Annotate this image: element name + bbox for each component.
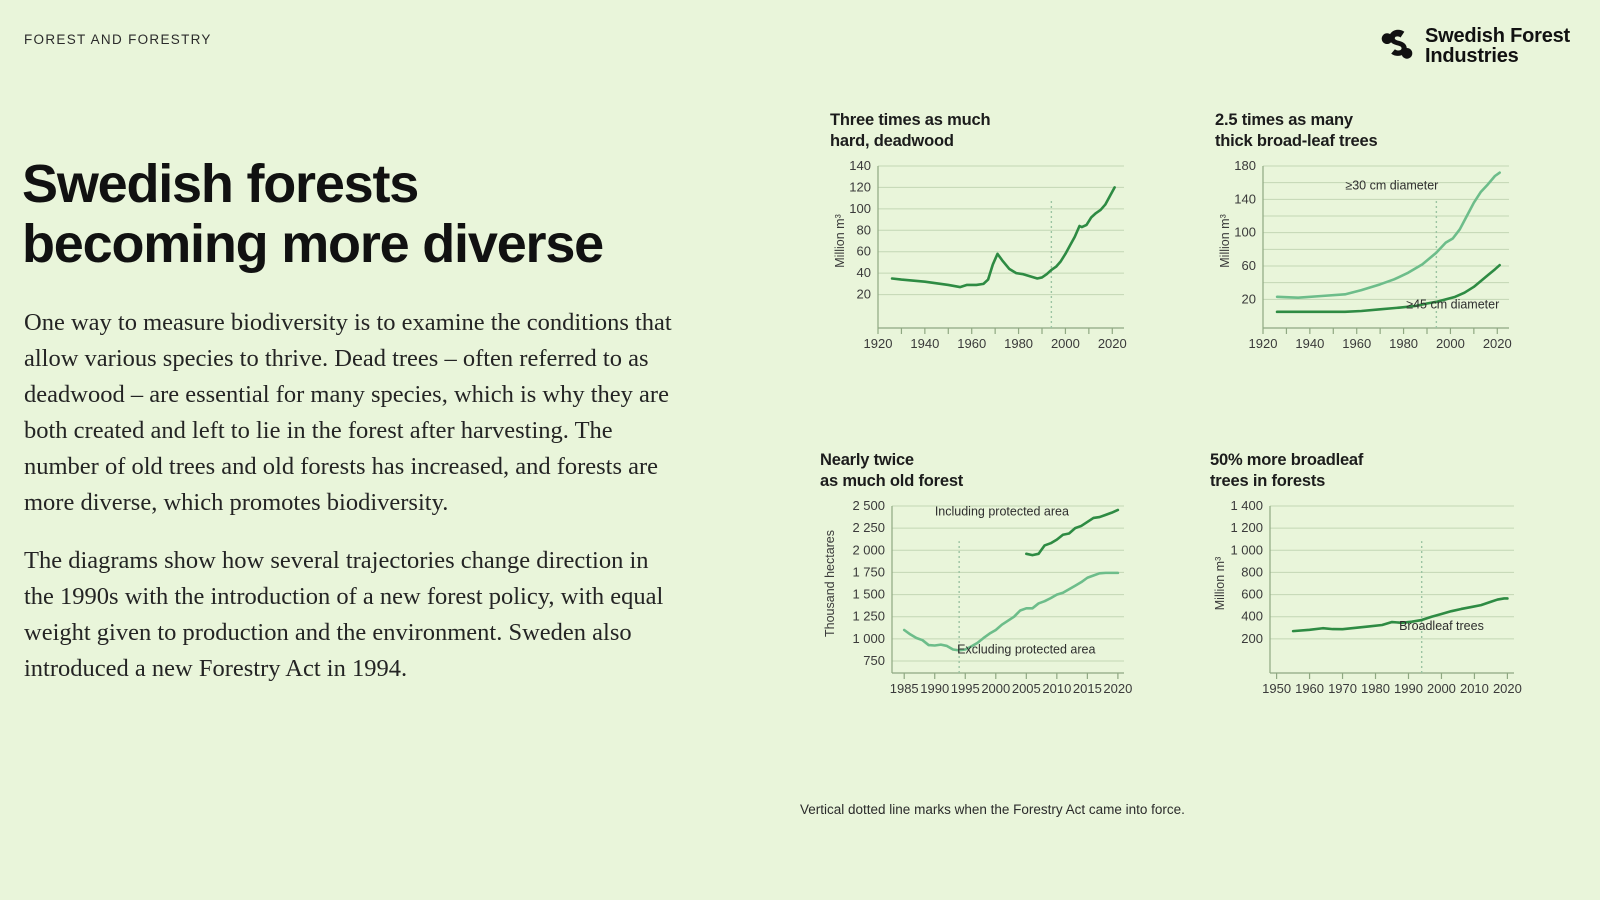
y-tick-label: 100 <box>849 201 871 216</box>
logo-line-2: Industries <box>1425 46 1570 66</box>
y-tick-label: 200 <box>1241 631 1263 646</box>
infographic-page: FOREST AND FORESTRY Swedish Forest Indus… <box>0 0 1600 900</box>
x-tick-label: 2010 <box>1460 681 1489 696</box>
x-tick-label: 2000 <box>981 681 1010 696</box>
series-label: Excluding protected area <box>957 642 1095 656</box>
y-tick-label: 60 <box>857 244 871 259</box>
x-tick-label: 2000 <box>1427 681 1456 696</box>
y-tick-label: 20 <box>1242 291 1256 306</box>
x-tick-label: 2020 <box>1483 336 1512 351</box>
y-tick-label: 100 <box>1234 225 1256 240</box>
x-tick-label: 1980 <box>1361 681 1390 696</box>
chart-broadleaf-volume: 50% more broadleaf trees in forests20040… <box>1210 450 1520 695</box>
x-tick-label: 1985 <box>890 681 919 696</box>
chart-title-deadwood: Three times as much hard, deadwood <box>830 110 1130 152</box>
y-axis-title: Million m³ <box>1213 557 1227 610</box>
x-tick-label: 1980 <box>1004 336 1033 351</box>
y-tick-label: 800 <box>1241 564 1263 579</box>
paragraph-2: The diagrams show how several trajectori… <box>24 543 674 687</box>
x-tick-label: 2020 <box>1098 336 1127 351</box>
y-tick-label: 80 <box>857 222 871 237</box>
y-tick-label: 2 000 <box>852 542 885 557</box>
x-tick-label: 1960 <box>1295 681 1324 696</box>
x-tick-label: 1960 <box>1342 336 1371 351</box>
chart-plot-old-forest: 7501 0001 2501 5001 7502 0002 2502 500Th… <box>820 500 1130 695</box>
headline-line-1: Swedish forests <box>22 154 672 214</box>
y-tick-label: 1 250 <box>852 609 885 624</box>
x-tick-label: 1980 <box>1389 336 1418 351</box>
series-line <box>892 187 1115 287</box>
x-tick-label: 1920 <box>864 336 893 351</box>
chart-title-old-forest: Nearly twice as much old forest <box>820 450 1130 492</box>
series-label: Including protected area <box>935 505 1069 519</box>
charts-grid: Three times as much hard, deadwood204060… <box>790 110 1580 810</box>
x-tick-label: 1990 <box>1394 681 1423 696</box>
y-tick-label: 20 <box>857 287 871 302</box>
x-tick-label: 1990 <box>920 681 949 696</box>
x-tick-label: 1940 <box>1295 336 1324 351</box>
chart-thick-broadleaf: 2.5 times as many thick broad-leaf trees… <box>1215 110 1515 350</box>
y-axis-title: Million m³ <box>1218 214 1232 267</box>
chart-plot-deadwood: 20406080100120140Million m³1920194019601… <box>830 160 1130 350</box>
y-tick-label: 1 200 <box>1230 520 1263 535</box>
y-tick-label: 2 500 <box>852 498 885 513</box>
x-tick-label: 1940 <box>910 336 939 351</box>
y-axis-title: Million m³ <box>833 214 847 267</box>
series-label: ≥30 cm diameter <box>1345 178 1438 192</box>
y-tick-label: 1 000 <box>852 631 885 646</box>
x-tick-label: 2015 <box>1073 681 1102 696</box>
chart-plot-broadleaf-volume: 2004006008001 0001 2001 400Million m³195… <box>1210 500 1520 695</box>
y-tick-label: 2 250 <box>852 520 885 535</box>
x-tick-label: 2005 <box>1012 681 1041 696</box>
x-tick-label: 2000 <box>1436 336 1465 351</box>
y-tick-label: 180 <box>1234 158 1256 173</box>
logo-wordmark: Swedish Forest Industries <box>1425 26 1570 66</box>
chart-plot-thick-broadleaf: 2060100140180Million m³19201940196019802… <box>1215 160 1515 350</box>
y-tick-label: 1 500 <box>852 587 885 602</box>
x-tick-label: 1970 <box>1328 681 1357 696</box>
footnote: Vertical dotted line marks when the Fore… <box>800 802 1185 817</box>
y-tick-label: 140 <box>1234 191 1256 206</box>
x-tick-label: 1960 <box>957 336 986 351</box>
y-tick-label: 400 <box>1241 609 1263 624</box>
swedish-forest-industries-s-icon <box>1378 26 1416 66</box>
y-tick-label: 750 <box>863 653 885 668</box>
x-tick-label: 1950 <box>1262 681 1291 696</box>
chart-title-broadleaf-volume: 50% more broadleaf trees in forests <box>1210 450 1520 492</box>
x-tick-label: 2000 <box>1051 336 1080 351</box>
y-tick-label: 120 <box>849 179 871 194</box>
x-tick-label: 1920 <box>1249 336 1278 351</box>
logo-line-1: Swedish Forest <box>1425 26 1570 46</box>
y-tick-label: 1 750 <box>852 564 885 579</box>
y-tick-label: 1 000 <box>1230 542 1263 557</box>
y-tick-label: 60 <box>1242 258 1256 273</box>
y-tick-label: 40 <box>857 265 871 280</box>
chart-deadwood: Three times as much hard, deadwood204060… <box>830 110 1130 350</box>
x-tick-label: 2010 <box>1042 681 1071 696</box>
chart-title-thick-broadleaf: 2.5 times as many thick broad-leaf trees <box>1215 110 1515 152</box>
series-label: Broadleaf trees <box>1399 619 1484 633</box>
paragraph-1: One way to measure biodiversity is to ex… <box>24 305 674 521</box>
y-tick-label: 1 400 <box>1230 498 1263 513</box>
chart-old-forest: Nearly twice as much old forest7501 0001… <box>820 450 1130 695</box>
x-tick-label: 2020 <box>1493 681 1522 696</box>
y-axis-title: Thousand hectares <box>823 530 837 637</box>
x-tick-label: 1995 <box>951 681 980 696</box>
x-tick-label: 2020 <box>1103 681 1132 696</box>
kicker-label: FOREST AND FORESTRY <box>24 32 212 47</box>
brand-logo: Swedish Forest Industries <box>1378 26 1570 66</box>
y-tick-label: 140 <box>849 158 871 173</box>
page-title: Swedish forests becoming more diverse <box>22 154 672 274</box>
series-label: ≥45 cm diameter <box>1406 298 1499 312</box>
body-copy: One way to measure biodiversity is to ex… <box>24 305 674 709</box>
headline-line-2: becoming more diverse <box>22 214 672 274</box>
y-tick-label: 600 <box>1241 587 1263 602</box>
